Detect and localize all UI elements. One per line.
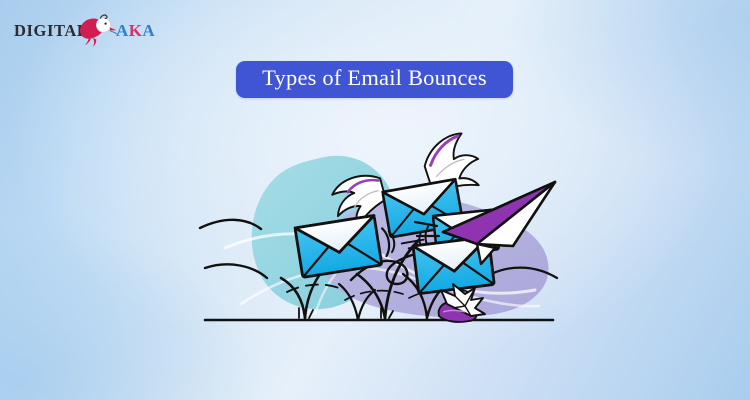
page-title: Types of Email Bounces bbox=[262, 67, 487, 92]
logo-aka-text: AKA bbox=[116, 21, 155, 41]
logo-letter-a2: A bbox=[142, 21, 155, 40]
logo-letter-a1: A bbox=[116, 21, 129, 40]
page-title-badge: Types of Email Bounces bbox=[236, 61, 513, 98]
email-bounces-banner: DIGITAL AKA Types of Email Bounces bbox=[0, 0, 750, 400]
logo-letter-k: K bbox=[129, 21, 143, 40]
email-bounces-illustration bbox=[195, 128, 565, 356]
site-logo[interactable]: DIGITAL AKA bbox=[14, 13, 174, 49]
impact-marks bbox=[299, 308, 393, 318]
